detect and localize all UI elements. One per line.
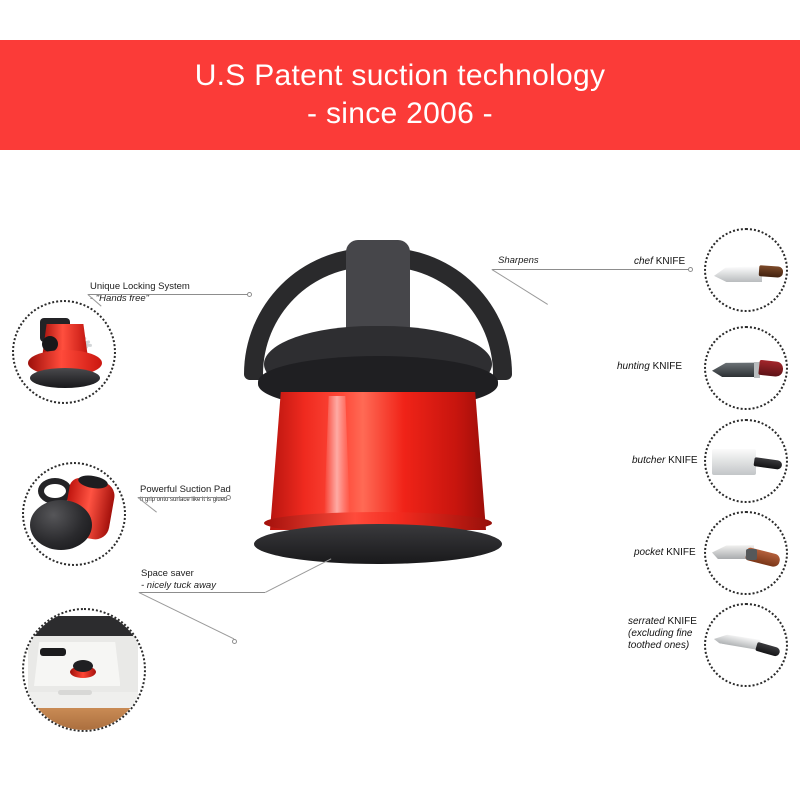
leader-line-suction-underline [138, 497, 228, 498]
knife-word: KNIFE [666, 547, 695, 558]
chef-knife-blade [714, 266, 762, 282]
photo-circle-serrated-knife [704, 603, 788, 687]
knife-word: KNIFE [656, 256, 685, 267]
knife-extra-line2: toothed ones) [628, 640, 697, 652]
banner-title-line1: U.S Patent suction technology [195, 57, 606, 95]
product-image-main [228, 240, 528, 580]
butcher-knife-handle [754, 457, 783, 470]
photo-circle-locking-system [12, 300, 116, 404]
leader-dot-sharpens [688, 267, 693, 272]
header-banner: U.S Patent suction technology - since 20… [0, 40, 800, 150]
leader-line-locking-underline [88, 294, 218, 295]
feature-title: Powerful Suction Pad [140, 484, 231, 496]
hunting-knife-handle [758, 360, 783, 377]
leader-line-spacesaver-underline [139, 592, 265, 593]
leader-line-sharpens [492, 269, 690, 270]
knife-kind: serrated [628, 616, 665, 627]
photo-circle-butcher-knife [704, 419, 788, 503]
knife-word: KNIFE [653, 361, 682, 372]
serrated-knife-blade [713, 630, 760, 651]
knife-kind: chef [634, 256, 653, 267]
drawer-utensil [40, 648, 66, 656]
knife-label-chef: chef KNIFE [634, 256, 685, 268]
photo-circle-space-saver [22, 608, 146, 732]
drawer-sharpener-top [73, 660, 93, 672]
feature-label-space-saver: Space saver - nicely tuck away [141, 568, 216, 592]
leader-dot-spacesaver [232, 639, 237, 644]
locking-suction-foot [30, 368, 100, 388]
infographic-page: U.S Patent suction technology - since 20… [0, 0, 800, 800]
pocket-knife-pivot [746, 549, 757, 560]
photo-circle-hunting-knife [704, 326, 788, 410]
butcher-knife-blade [712, 449, 756, 475]
drawer-counter-top [24, 616, 144, 638]
serrated-knife-handle [755, 642, 781, 657]
knife-kind: butcher [632, 455, 665, 466]
product-body [270, 392, 486, 530]
chef-knife-handle [759, 265, 784, 278]
sharpens-label: Sharpens [498, 255, 539, 267]
photo-circle-pocket-knife [704, 511, 788, 595]
knife-word: KNIFE [667, 616, 696, 627]
knife-kind: pocket [634, 547, 663, 558]
feature-label-unique-locking-system: Unique Locking System - "Hands free" [90, 281, 190, 305]
leader-dot-suction-right [226, 495, 231, 500]
banner-title-line2: - since 2006 - [307, 95, 493, 133]
leader-line-locking-horizontal [218, 294, 250, 295]
feature-label-powerful-suction-pad: Powerful Suction Pad It grip onto surfac… [140, 484, 231, 505]
product-suction-base [254, 524, 502, 564]
knife-word: KNIFE [668, 455, 697, 466]
leader-line-spacesaver-to-photo [139, 592, 235, 639]
drawer-pull-handle [58, 690, 92, 695]
hunting-knife-blade [712, 362, 758, 377]
photo-circle-suction-pad [22, 462, 126, 566]
knife-label-hunting: hunting KNIFE [617, 361, 682, 373]
knife-label-pocket: pocket KNIFE [634, 547, 696, 559]
feature-title: Space saver [141, 568, 216, 580]
knife-kind: hunting [617, 361, 650, 372]
feature-subtitle: - nicely tuck away [141, 580, 216, 592]
product-handle-tab [346, 240, 410, 336]
knife-label-butcher: butcher KNIFE [632, 455, 698, 467]
leader-dot-locking-right [247, 292, 252, 297]
feature-title: Unique Locking System [90, 281, 190, 293]
drawer-wood-floor [24, 708, 144, 732]
photo-circle-chef-knife [704, 228, 788, 312]
knife-extra-line1: (excluding fine [628, 628, 697, 640]
suction-photo-pad [30, 500, 92, 550]
knife-label-serrated: serrated KNIFE (excluding fine toothed o… [628, 616, 697, 652]
sharpens-text: Sharpens [498, 255, 539, 267]
